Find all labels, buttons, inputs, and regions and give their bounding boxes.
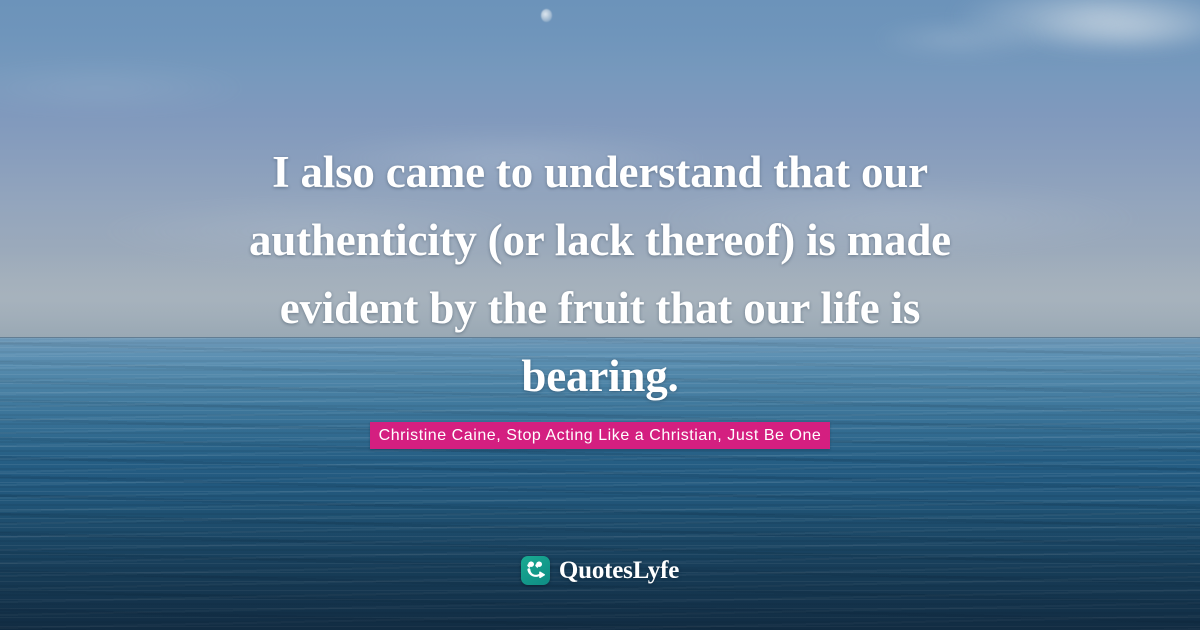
quote-bubble-icon <box>521 556 550 585</box>
quote-card: I also came to understand that our authe… <box>0 0 1200 630</box>
quote-line-1: I also came to understand that our <box>130 138 1070 206</box>
brand-logo[interactable]: QuotesLyfe <box>0 556 1200 585</box>
quote-line-4: bearing. <box>130 342 1070 410</box>
attribution-badge: Christine Caine, Stop Acting Like a Chri… <box>370 422 831 449</box>
moon-icon <box>541 9 552 22</box>
brand-name: QuotesLyfe <box>559 557 679 585</box>
quote-line-3: evident by the fruit that our life is <box>130 274 1070 342</box>
attribution-row: Christine Caine, Stop Acting Like a Chri… <box>0 422 1200 449</box>
quote-text: I also came to understand that our authe… <box>130 138 1070 410</box>
quote-line-2: authenticity (or lack thereof) is made <box>130 206 1070 274</box>
cloud-wisp <box>870 22 1050 56</box>
